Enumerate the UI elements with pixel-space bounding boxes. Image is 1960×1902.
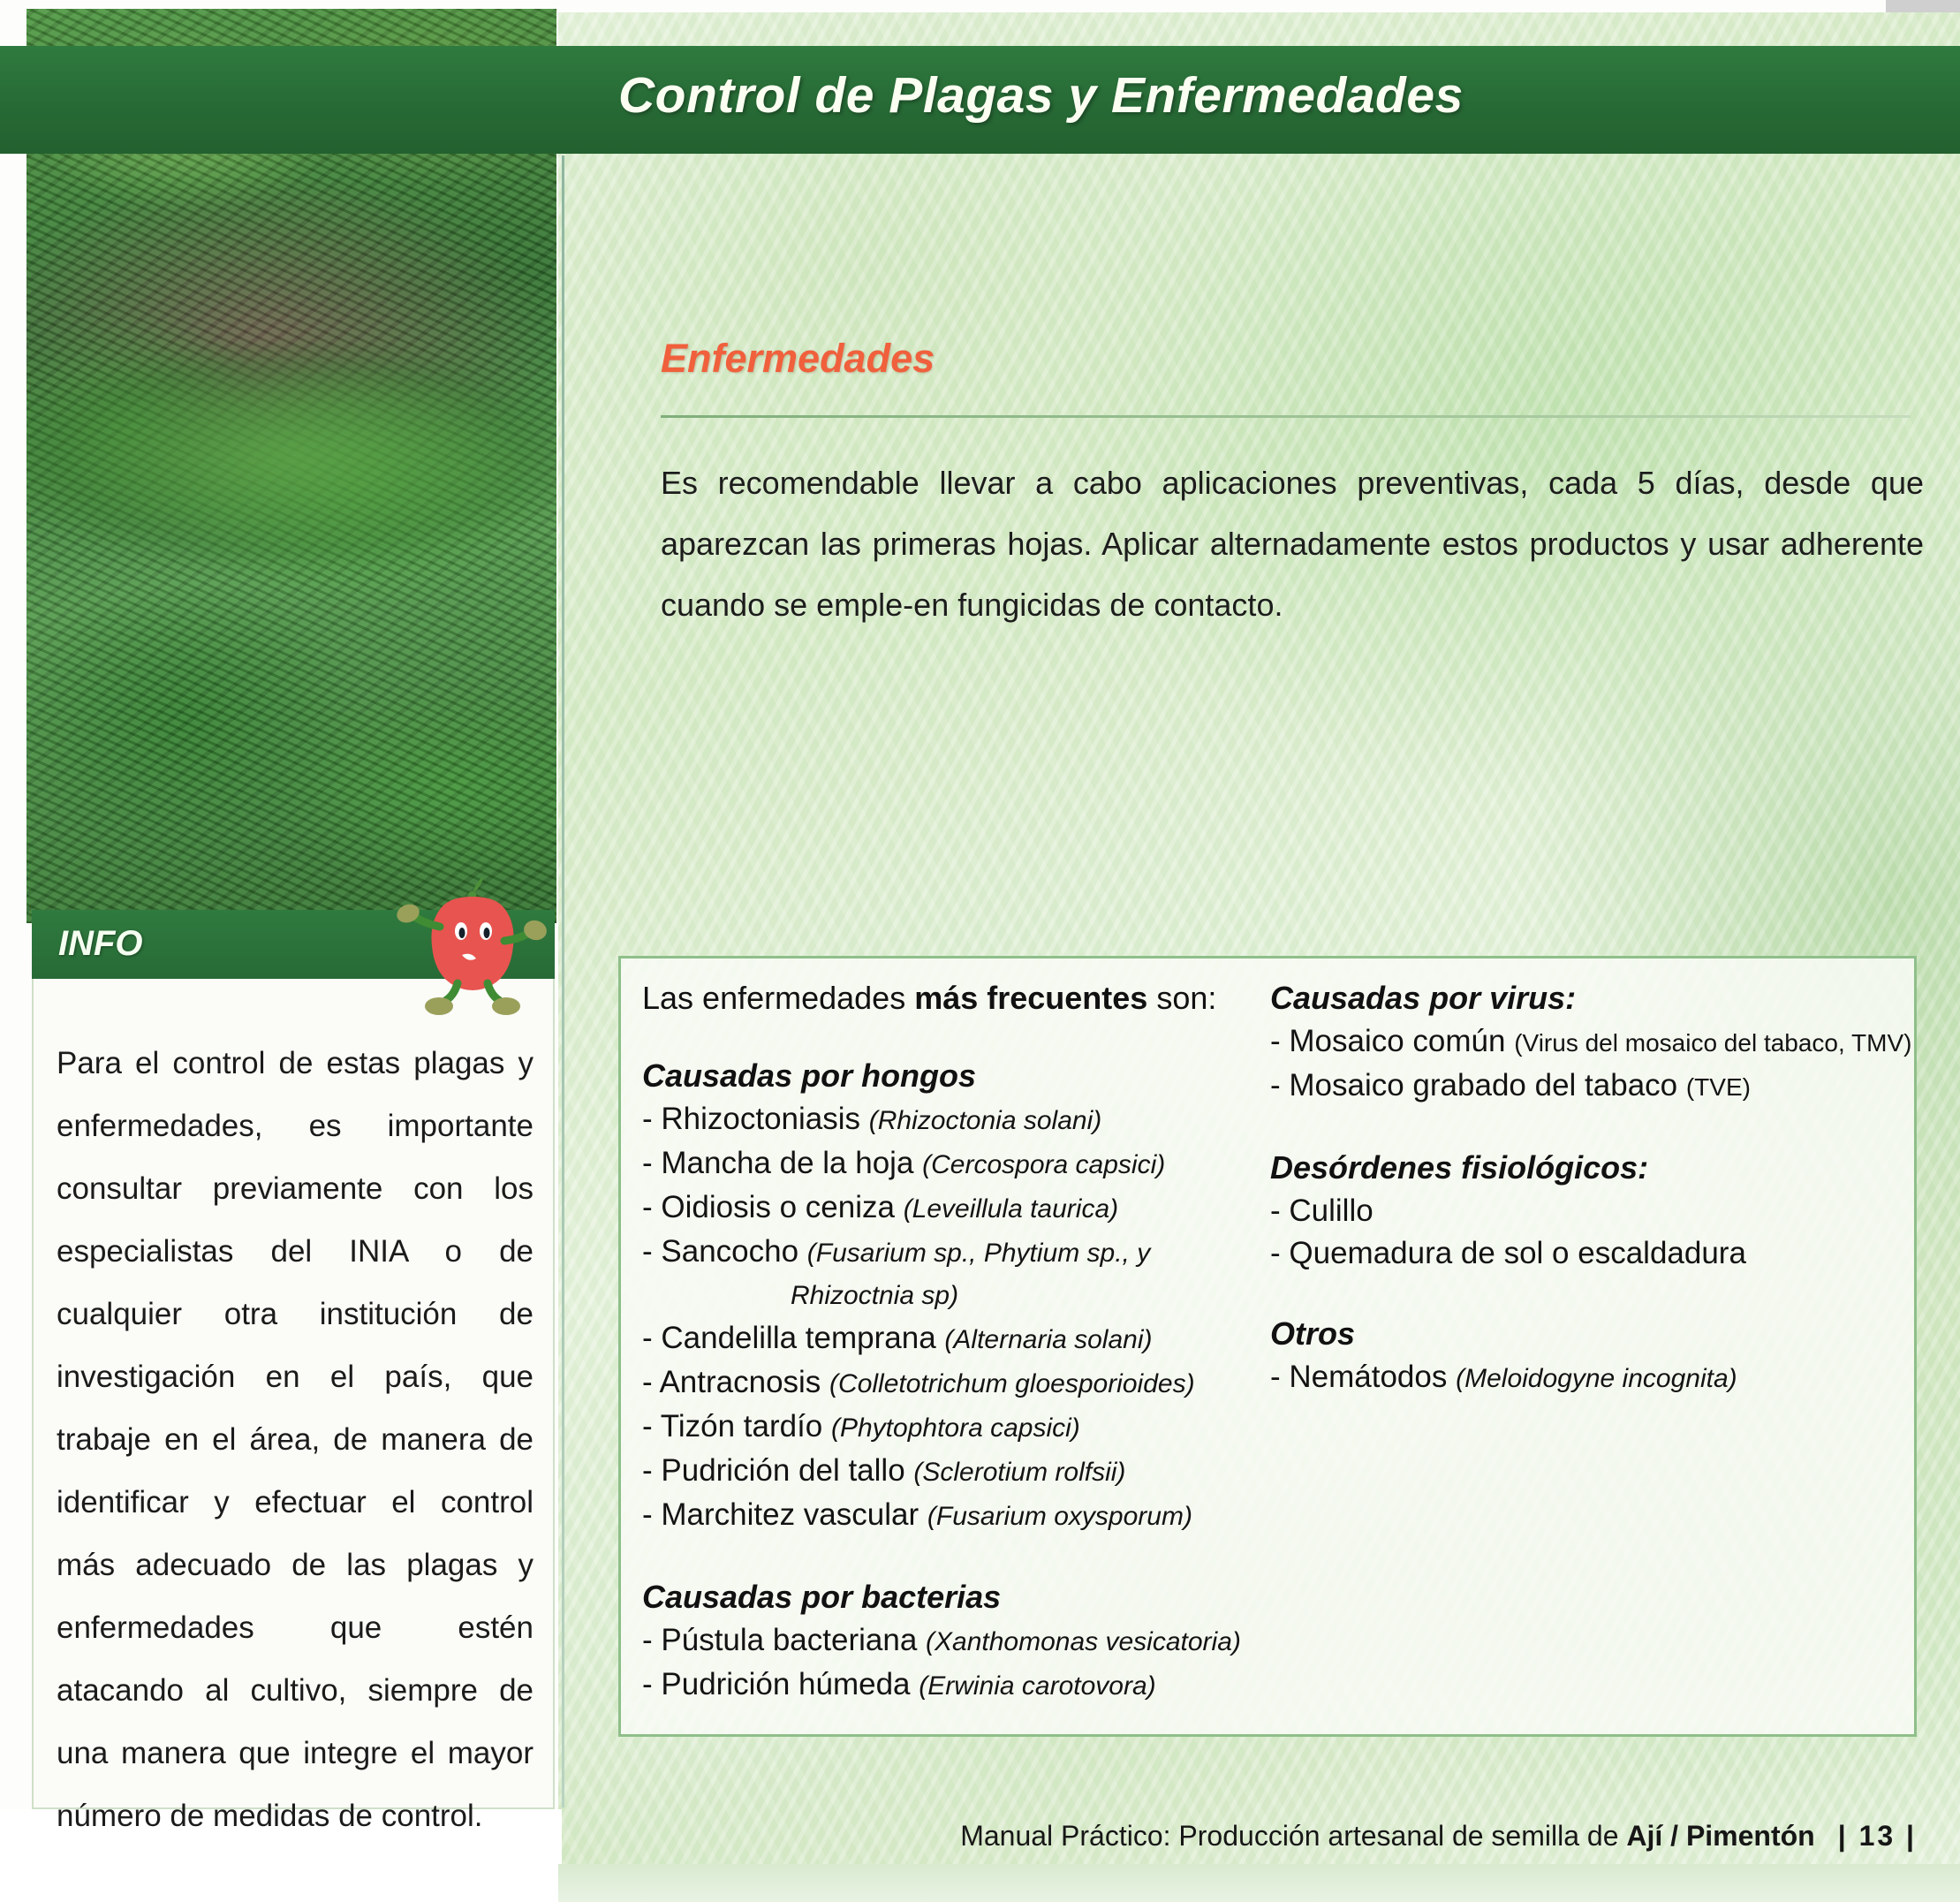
item-name: - Antracnosis (642, 1365, 821, 1399)
footer-title-bold: Ají / Pimentón (1626, 1820, 1814, 1852)
group-otros: Otros - Nemátodos (Meloidogyne incognita… (1270, 1315, 1888, 1400)
item-scientific-name: (Fusarium sp., Phytium sp., y (807, 1239, 1150, 1268)
item-scientific-name: (Rhizoctonia solani) (869, 1106, 1101, 1135)
section-heading: Enfermedades (661, 336, 935, 382)
scan-edge-artifact (1886, 0, 1960, 12)
group-heading: Otros (1270, 1315, 1888, 1353)
page-bottom-band (558, 1864, 1960, 1902)
group-heading: Desórdenes fisiológicos: (1270, 1149, 1888, 1186)
page-number: | 13 | (1838, 1820, 1917, 1852)
item-name: - Oidiosis o ceniza (642, 1190, 895, 1224)
info-box-body: Para el control de estas plagas y enferm… (32, 979, 555, 1809)
group-heading: Causadas por virus: (1270, 980, 1888, 1017)
section-intro-paragraph: Es recomendable llevar a cabo aplicacion… (661, 452, 1924, 635)
page-title: Control de Plagas y Enfermedades (618, 66, 1464, 125)
item-name: - Pústula bacteriana (642, 1623, 917, 1657)
item-scientific-name: (Sclerotium rolfsii) (913, 1458, 1125, 1487)
list-item: - Pústula bacteriana (Xanthomonas vesica… (642, 1619, 1260, 1663)
pepper-mascot-icon (389, 870, 556, 1034)
item-scientific-name: (Phytophtora capsici) (831, 1413, 1080, 1443)
list-item: - Quemadura de sol o escaldadura (1270, 1232, 1888, 1275)
list-item: - Rhizoctoniasis (Rhizoctonia solani) (642, 1098, 1260, 1142)
list-item: - Pudrición húmeda (Erwinia carotovora) (642, 1663, 1260, 1708)
list-item: - Sancocho (Fusarium sp., Phytium sp., y (642, 1231, 1260, 1275)
item-name: - Mosaico común (1270, 1024, 1505, 1058)
list-item: - Marchitez vascular (Fusarium oxysporum… (642, 1494, 1260, 1538)
lead-prefix: Las enfermedades (642, 980, 914, 1016)
group-virus: Causadas por virus: - Mosaico común (Vir… (1270, 980, 1888, 1109)
info-box-label: INFO (58, 924, 143, 964)
item-name: - Pudrición húmeda (642, 1667, 911, 1701)
item-scientific-name: (Meloidogyne incognita) (1456, 1364, 1737, 1393)
list-item: - Mancha de la hoja (Cercospora capsici) (642, 1142, 1260, 1186)
item-name: - Mancha de la hoja (642, 1146, 913, 1180)
item-scientific-name: (Cercospora capsici) (922, 1150, 1165, 1179)
item-scientific-name: (Alternaria solani) (944, 1325, 1152, 1354)
item-scientific-name: (Xanthomonas vesicatoria) (926, 1627, 1241, 1656)
group-heading: Causadas por bacterias (642, 1579, 1260, 1616)
item-name: - Nemátodos (1270, 1360, 1447, 1394)
disease-column-right: Causadas por virus: - Mosaico común (Vir… (1270, 980, 1888, 1400)
list-item: - Oidiosis o ceniza (Leveillula taurica) (642, 1186, 1260, 1231)
list-item: - Nemátodos (Meloidogyne incognita) (1270, 1356, 1888, 1400)
list-item: - Tizón tardío (Phytophtora capsici) (642, 1406, 1260, 1450)
section-divider (661, 415, 1911, 418)
item-note: (TVE) (1686, 1073, 1751, 1101)
item-scientific-name: (Fusarium oxysporum) (927, 1502, 1192, 1531)
lead-suffix: son: (1147, 980, 1216, 1016)
info-box-text: Para el control de estas plagas y enferm… (57, 1032, 534, 1847)
lead-bold: más frecuentes (914, 980, 1147, 1016)
page-footer: Manual Práctico: Producción artesanal de… (618, 1820, 1917, 1853)
item-scientific-name: (Leveillula taurica) (904, 1194, 1118, 1224)
list-lead-line: Las enfermedades más frecuentes son: (642, 980, 1260, 1017)
list-item-continuation: Rhizoctnia sp) (642, 1275, 1260, 1317)
list-item: - Pudrición del tallo (Sclerotium rolfsi… (642, 1450, 1260, 1494)
column-divider (562, 155, 564, 1807)
list-item: - Culillo (1270, 1190, 1888, 1232)
group-desordenes: Desórdenes fisiológicos: - Culillo - Que… (1270, 1149, 1888, 1275)
item-note: (Virus del mosaico del tabaco, TMV) (1514, 1029, 1911, 1057)
item-scientific-name: (Colletotrichum gloesporioides) (829, 1369, 1195, 1398)
group-bacterias: Causadas por bacterias - Pústula bacteri… (642, 1579, 1260, 1708)
group-hongos: Causadas por hongos - Rhizoctoniasis (Rh… (642, 1057, 1260, 1538)
item-name: - Rhizoctoniasis (642, 1102, 860, 1136)
item-name: - Candelilla temprana (642, 1321, 936, 1355)
list-item: - Mosaico común (Virus del mosaico del t… (1270, 1020, 1888, 1065)
manual-page: Control de Plagas y Enfermedades Enferme… (0, 0, 1960, 1902)
group-heading: Causadas por hongos (642, 1057, 1260, 1095)
item-name: - Mosaico grabado del tabaco (1270, 1068, 1677, 1103)
item-name: - Sancocho (642, 1234, 798, 1269)
list-item: - Antracnosis (Colletotrichum gloesporio… (642, 1361, 1260, 1406)
disease-list-box: Las enfermedades más frecuentes son: Cau… (618, 956, 1917, 1737)
footer-text: Manual Práctico: Producción artesanal de… (960, 1820, 1626, 1852)
item-scientific-name: (Erwinia carotovora) (919, 1671, 1155, 1701)
disease-column-left: Las enfermedades más frecuentes son: Cau… (642, 980, 1260, 1708)
list-item: - Mosaico grabado del tabaco (TVE) (1270, 1065, 1888, 1109)
item-name: - Pudrición del tallo (642, 1453, 905, 1488)
list-item: - Candelilla temprana (Alternaria solani… (642, 1317, 1260, 1361)
item-name: - Marchitez vascular (642, 1497, 919, 1532)
item-name: - Tizón tardío (642, 1409, 822, 1444)
